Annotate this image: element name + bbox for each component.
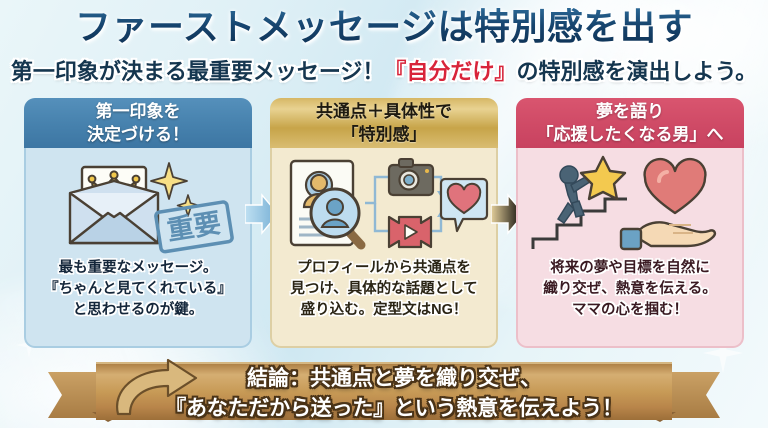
film-ticket-icon — [389, 217, 431, 247]
card2-description: プロフィールから共通点を 見つけ、具体的な話題として 盛り込む。定型文はNG！ — [284, 258, 483, 321]
card3-body: 将来の夢や目標を自然に 織り交ぜ、熱意を伝える。 ママの心を掴む！ — [516, 148, 744, 348]
card2-body: プロフィールから共通点を 見つけ、具体的な話題として 盛り込む。定型文はNG！ — [270, 148, 498, 348]
star-icon — [581, 157, 625, 199]
page-subtitle: 第一印象が決まる最重要メッセージ！『自分だけ』の特別感を演出しよう。 — [0, 56, 768, 88]
card2-header-line2: 「特別感」 — [316, 123, 452, 146]
ribbon-line1: 結論：共通点と夢を織り交ぜ、 — [110, 364, 678, 394]
subtitle-highlight: 『自分だけ』 — [384, 59, 516, 84]
stamp-label: 重要 — [165, 208, 223, 246]
card3-header-line2: 「応援したくなる男」へ — [537, 123, 724, 146]
card2-desc-line2: 見つけ、具体的な話題として — [290, 279, 477, 300]
card1-header-line1: 第一印象を — [87, 100, 189, 123]
important-stamp-icon: 重要 — [155, 201, 232, 252]
card3-desc-line1: 将来の夢や目標を自然に — [543, 258, 717, 279]
subtitle-before: 第一印象が決まる最重要メッセージ！ — [11, 59, 385, 84]
card3-header-line1: 夢を語り — [537, 100, 724, 123]
card-share-dreams[interactable]: 夢を語り 「応援したくなる男」へ — [516, 98, 744, 348]
page-title: ファーストメッセージは特別感を出す — [0, 4, 768, 50]
card3-illustration — [518, 148, 742, 258]
card2-header: 共通点＋具体性で 「特別感」 — [270, 98, 498, 148]
card3-desc-line2: 織り交ぜ、熱意を伝える。 — [543, 279, 717, 300]
card2-illustration — [272, 148, 496, 258]
ribbon-text: 結論：共通点と夢を織り交ぜ、 『あなただから送った』という熱意を伝えよう！ — [110, 364, 678, 424]
camera-icon — [389, 159, 433, 195]
card2-desc-line3: 盛り込む。定型文はNG！ — [290, 300, 477, 321]
card1-description: 最も重要なメッセージ。 『ちゃんと見てくれている』 と思わせるのが鍵。 — [38, 258, 238, 321]
envelope-icon — [70, 167, 158, 243]
card2-desc-line1: プロフィールから共通点を — [290, 258, 477, 279]
card1-desc-line2: 『ちゃんと見てくれている』 — [44, 279, 232, 300]
card1-body: 重要 最も重要なメッセージ。 『ちゃんと見てくれている』 と思わせるのが鍵。 — [24, 148, 252, 348]
hand-holding-heart-icon — [621, 159, 715, 249]
card3-desc-line3: ママの心を掴む！ — [543, 300, 717, 321]
infographic-canvas: ファーストメッセージは特別感を出す ファーストメッセージは特別感を出す 第一印象… — [0, 0, 768, 428]
card-common-ground[interactable]: 共通点＋具体性で 「特別感」 — [270, 98, 498, 348]
card2-header-line1: 共通点＋具体性で — [316, 100, 452, 123]
subtitle-after: の特別感を演出しよう。 — [516, 59, 757, 84]
card1-desc-line1: 最も重要なメッセージ。 — [44, 258, 232, 279]
card-first-impression[interactable]: 第一印象を 決定づける！ — [24, 98, 252, 348]
heart-bubble-icon — [441, 179, 487, 231]
card3-description: 将来の夢や目標を自然に 織り交ぜ、熱意を伝える。 ママの心を掴む！ — [537, 258, 723, 321]
card1-header: 第一印象を 決定づける！ — [24, 98, 252, 148]
card1-header-line2: 決定づける！ — [87, 123, 189, 146]
ribbon-line2: 『あなただから送った』という熱意を伝えよう！ — [110, 394, 678, 424]
card3-header: 夢を語り 「応援したくなる男」へ — [516, 98, 744, 148]
card1-desc-line3: と思わせるのが鍵。 — [44, 300, 232, 321]
card1-illustration: 重要 — [26, 148, 250, 258]
